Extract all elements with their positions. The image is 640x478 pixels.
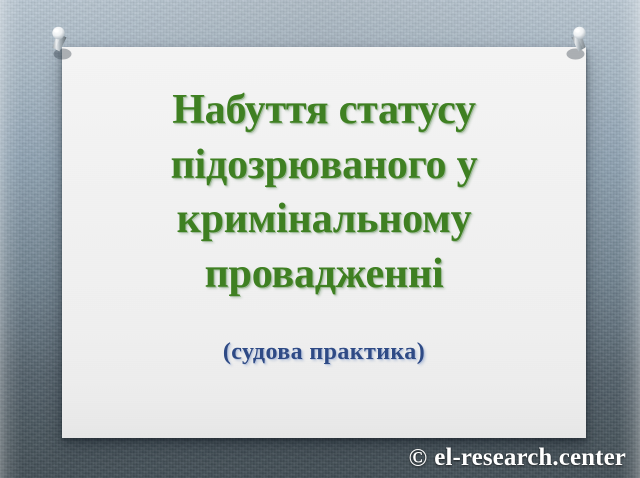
watermark-text: el-research.center [434,444,626,472]
slide-canvas: Набуття статусу підозрюваного у кримінал… [0,0,640,478]
page-subtitle: (судова практика) [62,301,586,366]
title-line-2: підозрюваного у [76,138,572,193]
page-title: Набуття статусу підозрюваного у кримінал… [62,47,586,301]
copyright-icon: © [408,446,427,471]
watermark: © el-research.center [408,444,626,472]
pushpin-left-icon [44,24,78,64]
title-line-4: провадженні [76,247,572,302]
title-line-3: кримінальному [76,192,572,247]
title-line-1: Набуття статусу [76,83,572,138]
paper-content: Набуття статусу підозрюваного у кримінал… [62,47,586,438]
pushpin-right-icon [560,24,594,64]
